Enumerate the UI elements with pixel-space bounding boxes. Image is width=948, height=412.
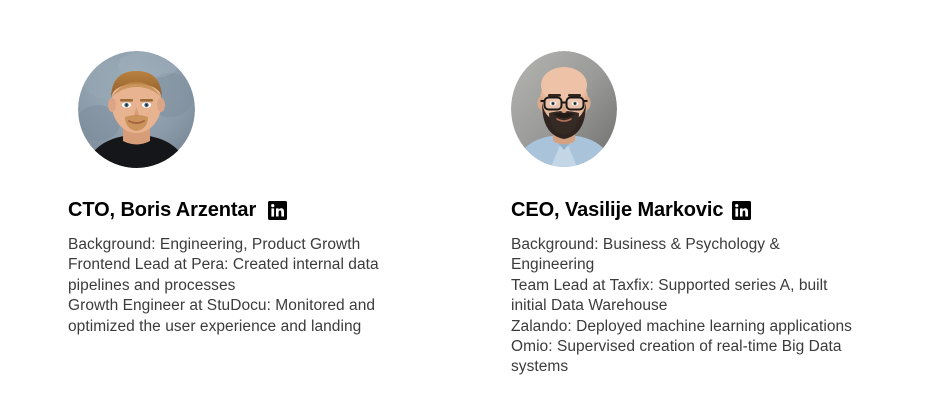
team-member-card: CEO, Vasilije Markovic Background: Busin… [511,0,911,412]
member-name: CTO, Boris Arzentar [68,196,256,224]
portrait-image [511,51,617,167]
linkedin-icon[interactable] [268,201,287,220]
member-name-row: CEO, Vasilije Markovic [511,196,751,224]
linkedin-icon[interactable] [732,201,751,220]
team-member-grid: CTO, Boris Arzentar Background: Engineer… [0,0,948,412]
member-bio: Background: Engineering, Product Growth … [68,235,413,337]
member-bio: Background: Business & Psychology & Engi… [511,235,856,378]
avatar [511,51,617,167]
member-name: CEO, Vasilije Markovic [511,196,723,224]
member-name-row: CTO, Boris Arzentar [68,196,287,224]
portrait-image [78,51,195,168]
avatar [78,51,195,168]
team-member-card: CTO, Boris Arzentar Background: Engineer… [68,0,468,412]
